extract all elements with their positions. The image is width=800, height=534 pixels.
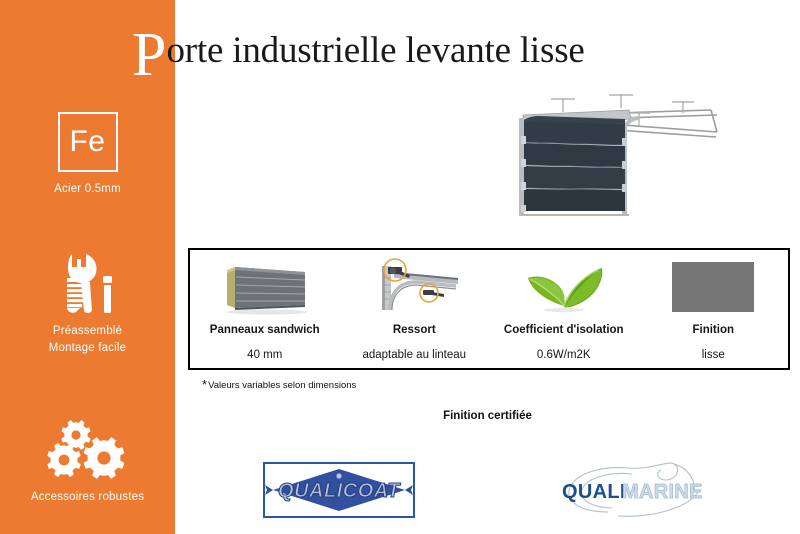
qualimarine-logo-graphic: QUALI MARINE <box>556 458 724 520</box>
footnote-text: Valeurs variables selon dimensions <box>208 380 356 391</box>
qualimarine-text-strong: QUALI <box>562 481 626 503</box>
sidebar-feature-accessories-label: Accessoires robustes <box>0 489 175 506</box>
feature-cell-spring-value: adaptable au linteau <box>340 349 490 361</box>
green-leaves-icon <box>516 258 612 316</box>
fe-element-box-icon-label: Fe <box>60 125 116 159</box>
industrial-sectional-door-photo <box>505 88 745 223</box>
qualimarine-text-light: MARINE <box>622 481 703 503</box>
feature-cell-finish: Finition lisse <box>639 250 789 368</box>
feature-cell-finish-value: lisse <box>639 349 789 361</box>
svg-text:QUALICOAT: QUALICOAT <box>278 480 401 502</box>
page-title-initial: P <box>132 21 166 89</box>
sidebar-feature-steel: Fe Acier 0.5mm <box>0 112 175 198</box>
spring-mechanism-image <box>366 258 462 316</box>
sidebar-feature-preassembled: Préassemblé Montage facile <box>0 252 175 357</box>
footnote-asterisk: * <box>202 377 207 392</box>
fe-element-box-icon: Fe <box>58 112 118 172</box>
sidebar-feature-preassembled-label-2: Montage facile <box>0 340 175 357</box>
feature-cell-insulation-value: 0.6W/m2K <box>489 349 639 361</box>
sidebar-feature-steel-label: Acier 0.5mm <box>0 181 175 198</box>
certification-title: Finition certifiée <box>0 410 800 422</box>
qualimarine-logo: QUALI MARINE <box>556 458 724 520</box>
features-box: Panneaux sandwich 40 mm <box>188 248 790 370</box>
sidebar-feature-accessories: Accessoires robustes <box>0 418 175 506</box>
feature-cell-finish-title: Finition <box>639 324 789 336</box>
footnote: *Valeurs variables selon dimensions <box>202 380 356 391</box>
page-title-text: orte industrielle levante lisse <box>166 30 584 71</box>
feature-cell-spring-title: Ressort <box>340 324 490 336</box>
feature-cell-panels: Panneaux sandwich 40 mm <box>190 250 340 368</box>
qualicoat-logo: QUALICOAT <box>263 462 415 518</box>
feature-cell-insulation-title: Coefficient d'isolation <box>489 324 639 336</box>
sandwich-panel-image <box>217 258 313 316</box>
wrench-screw-icon <box>56 252 120 314</box>
finish-swatch <box>672 262 754 312</box>
gears-icon <box>36 418 140 480</box>
feature-cell-insulation: Coefficient d'isolation 0.6W/m2K <box>489 250 639 368</box>
feature-cell-spring: Ressort adaptable au linteau <box>340 250 490 368</box>
poster-page: Fe Acier 0.5mm <box>0 0 800 534</box>
page-title: Porte industrielle levante lisse <box>132 24 585 86</box>
feature-cell-panels-title: Panneaux sandwich <box>190 324 340 336</box>
sidebar-feature-preassembled-label-1: Préassemblé <box>0 323 175 340</box>
feature-cell-panels-value: 40 mm <box>190 349 340 361</box>
qualicoat-logo-graphic: QUALICOAT <box>265 464 413 516</box>
